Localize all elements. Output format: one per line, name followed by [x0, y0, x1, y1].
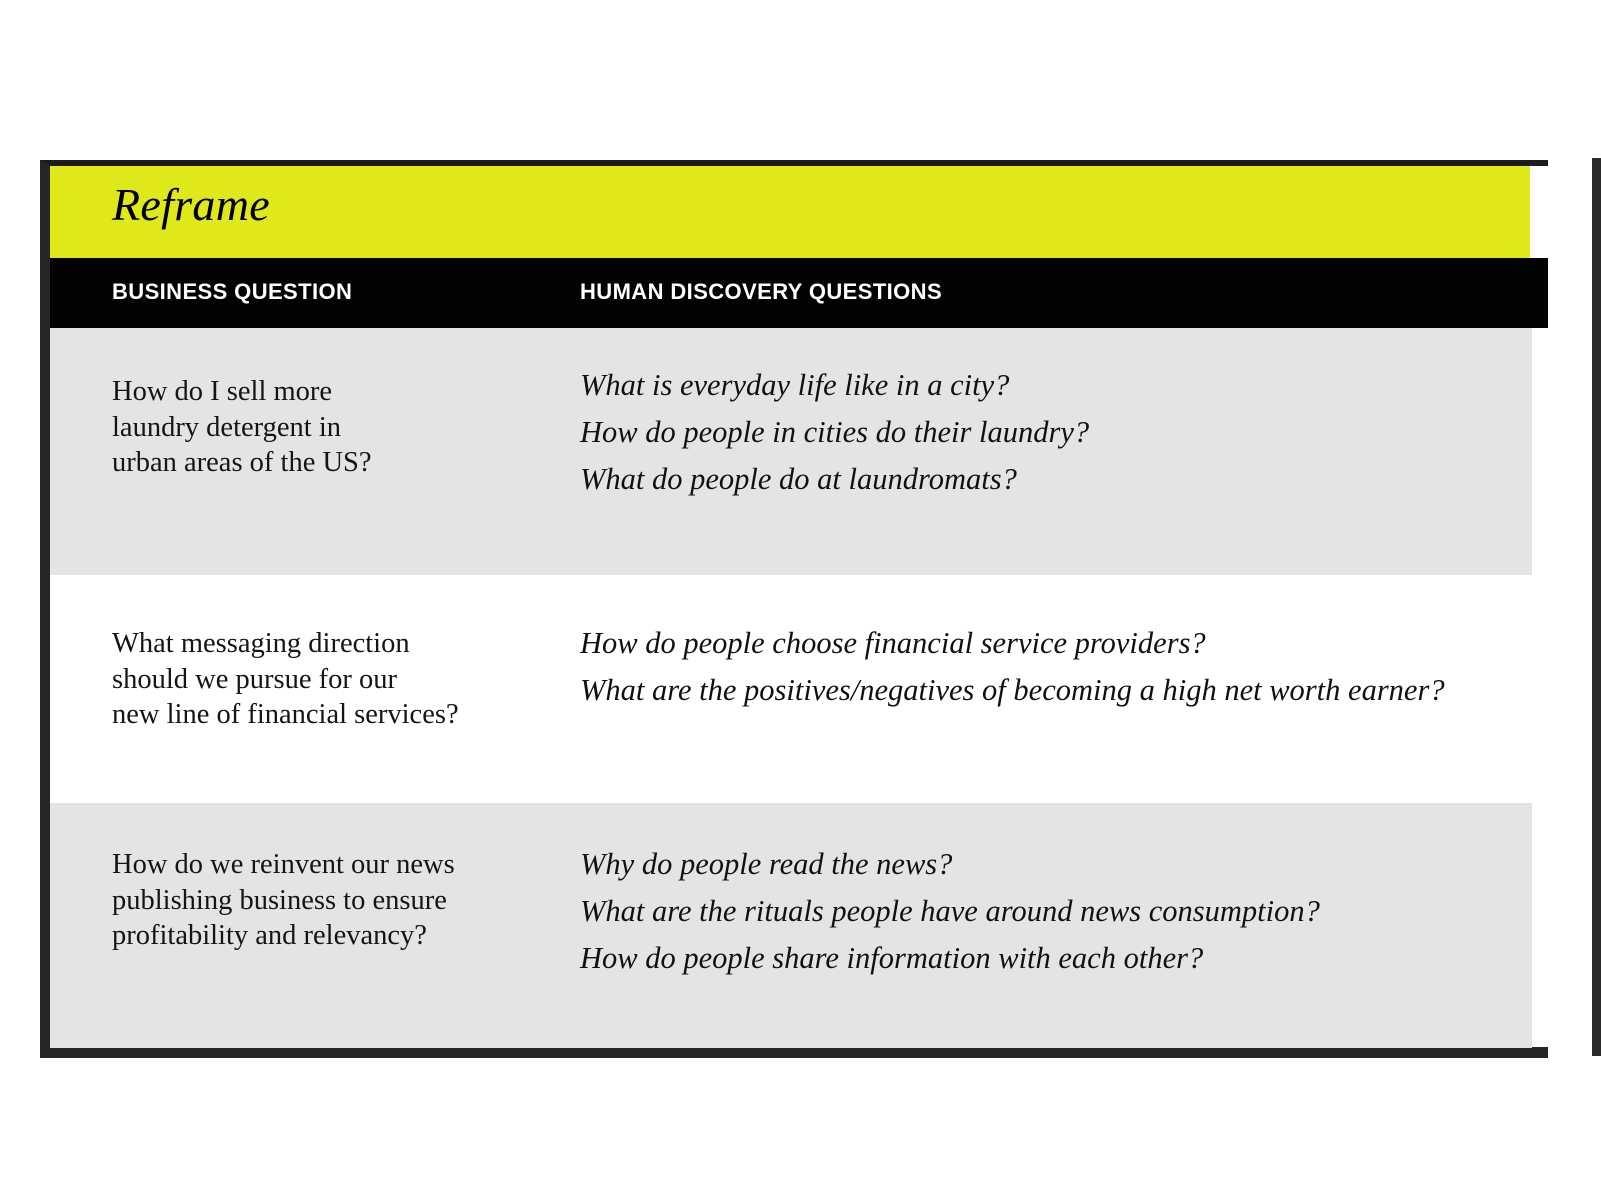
discovery-question: How do people choose financial service p… — [580, 620, 1520, 667]
reframe-table-card: Reframe BUSINESS QUESTION HUMAN DISCOVER… — [40, 160, 1548, 1058]
column-header-band: BUSINESS QUESTION HUMAN DISCOVERY QUESTI… — [50, 258, 1548, 328]
business-question-line: new line of financial services? — [112, 697, 532, 733]
business-question-line: laundry detergent in — [112, 410, 532, 446]
cell-business-question: What messaging direction should we pursu… — [112, 626, 532, 733]
title-band: Reframe — [50, 166, 1530, 258]
discovery-question: What do people do at laundromats? — [580, 456, 1520, 503]
discovery-question: What is everyday life like in a city? — [580, 362, 1520, 409]
column-header-human-discovery-questions: HUMAN DISCOVERY QUESTIONS — [580, 279, 942, 305]
business-question-line: profitability and relevancy? — [112, 918, 532, 954]
table-row: How do I sell more laundry detergent in … — [50, 328, 1532, 575]
business-question-line: should we pursue for our — [112, 662, 532, 698]
discovery-question: How do people in cities do their laundry… — [580, 409, 1520, 456]
business-question-line: How do we reinvent our news — [112, 847, 532, 883]
discovery-question: What are the positives/negatives of beco… — [580, 667, 1520, 714]
business-question-line: urban areas of the US? — [112, 445, 532, 481]
discovery-question: How do people share information with eac… — [580, 935, 1520, 982]
business-question-line: publishing business to ensure — [112, 883, 532, 919]
cell-human-discovery-questions: How do people choose financial service p… — [580, 620, 1520, 714]
table-right-border — [1592, 158, 1601, 1056]
discovery-question: What are the rituals people have around … — [580, 888, 1520, 935]
cell-business-question: How do we reinvent our news publishing b… — [112, 847, 532, 954]
business-question-line: What messaging direction — [112, 626, 532, 662]
page-title: Reframe — [112, 182, 270, 228]
slide-canvas: Reframe BUSINESS QUESTION HUMAN DISCOVER… — [0, 0, 1601, 1201]
column-header-business-question: BUSINESS QUESTION — [112, 279, 352, 305]
cell-business-question: How do I sell more laundry detergent in … — [112, 374, 532, 481]
table-row: How do we reinvent our news publishing b… — [50, 803, 1532, 1048]
business-question-line: How do I sell more — [112, 374, 532, 410]
cell-human-discovery-questions: What is everyday life like in a city? Ho… — [580, 362, 1520, 503]
discovery-question: Why do people read the news? — [580, 841, 1520, 888]
table-row: What messaging direction should we pursu… — [50, 575, 1532, 803]
cell-human-discovery-questions: Why do people read the news? What are th… — [580, 841, 1520, 982]
